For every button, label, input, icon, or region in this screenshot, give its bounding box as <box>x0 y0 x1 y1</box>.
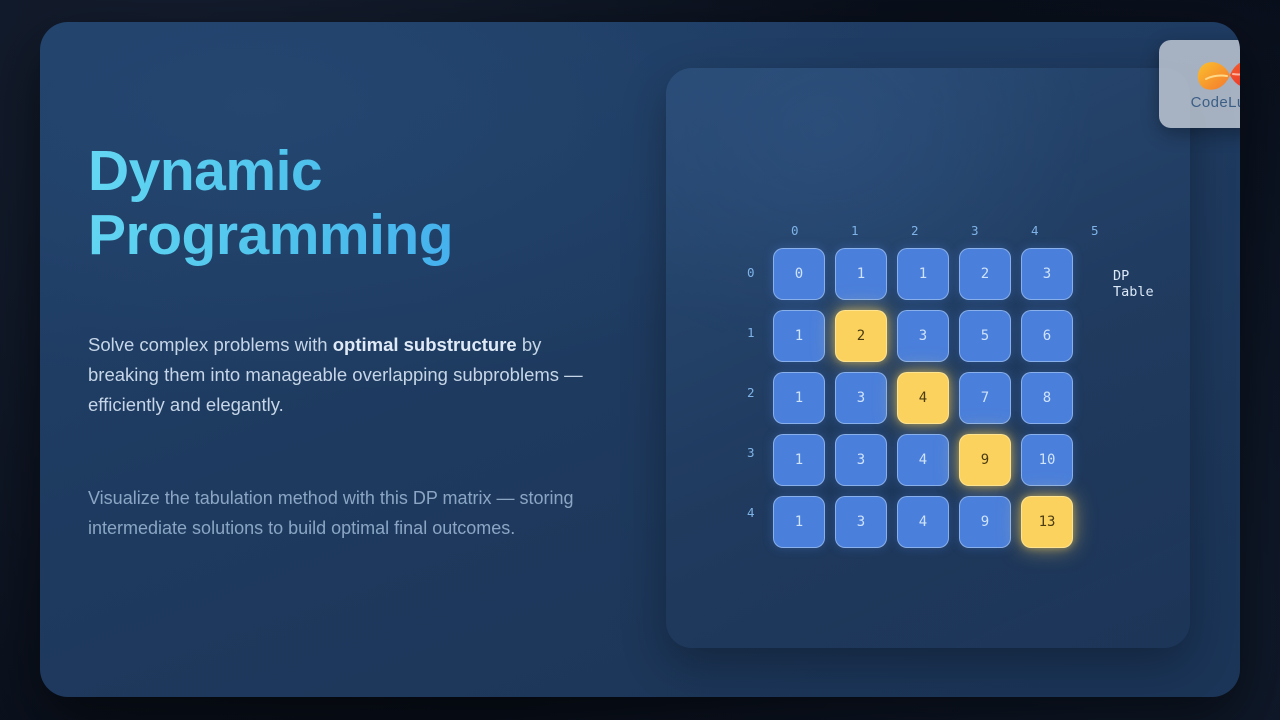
dp-cell-4-4[interactable]: 13 <box>1021 496 1073 548</box>
dp-cell-3-2[interactable]: 4 <box>897 434 949 486</box>
row-label-3: 3 <box>747 428 773 478</box>
dp-cell-4-1[interactable]: 3 <box>835 496 887 548</box>
row-label-2: 2 <box>747 368 773 418</box>
lead-paragraph-accent: optimal substructure <box>333 334 517 355</box>
dp-row: 134910 <box>773 434 1073 486</box>
dp-row: 01123 <box>773 248 1073 300</box>
column-header-row: 012345 <box>773 223 1073 243</box>
dp-cell-2-4[interactable]: 8 <box>1021 372 1073 424</box>
sub-paragraph: Visualize the tabulation method with thi… <box>88 483 588 543</box>
dp-cell-3-4[interactable]: 10 <box>1021 434 1073 486</box>
dp-grid-cells: 011231235613478134910134913 <box>773 248 1073 548</box>
column-label-0: 0 <box>791 223 799 238</box>
slide-stage: Dynamic Programming Solve complex proble… <box>0 0 1280 720</box>
dp-row: 12356 <box>773 310 1073 362</box>
dp-cell-1-0[interactable]: 1 <box>773 310 825 362</box>
page-title: Dynamic Programming <box>88 140 628 268</box>
row-label-4: 4 <box>747 488 773 538</box>
dp-cell-0-3[interactable]: 2 <box>959 248 1011 300</box>
dp-table: 012345 01234 011231235613478134910134913… <box>747 223 1073 548</box>
dp-cell-1-4[interactable]: 6 <box>1021 310 1073 362</box>
brand-badge: CodeLucky <box>1159 40 1240 128</box>
column-label-1: 1 <box>851 223 859 238</box>
column-label-4: 4 <box>1031 223 1039 238</box>
infinity-loop-icon <box>1193 57 1240 93</box>
column-label-5: 5 <box>1091 223 1099 238</box>
dp-cell-3-1[interactable]: 3 <box>835 434 887 486</box>
lead-paragraph-prefix: Solve complex problems with <box>88 334 333 355</box>
dp-cell-0-0[interactable]: 0 <box>773 248 825 300</box>
dp-cell-3-3[interactable]: 9 <box>959 434 1011 486</box>
dp-cell-2-0[interactable]: 1 <box>773 372 825 424</box>
brand-wordmark: CodeLucky <box>1191 94 1240 111</box>
dp-cell-4-2[interactable]: 4 <box>897 496 949 548</box>
dp-row: 13478 <box>773 372 1073 424</box>
dp-cell-0-4[interactable]: 3 <box>1021 248 1073 300</box>
dp-row: 134913 <box>773 496 1073 548</box>
dp-cell-2-2[interactable]: 4 <box>897 372 949 424</box>
dp-cell-3-0[interactable]: 1 <box>773 434 825 486</box>
dp-cell-2-3[interactable]: 7 <box>959 372 1011 424</box>
dp-cell-0-1[interactable]: 1 <box>835 248 887 300</box>
dp-cell-1-2[interactable]: 3 <box>897 310 949 362</box>
dp-cell-1-3[interactable]: 5 <box>959 310 1011 362</box>
column-label-3: 3 <box>971 223 979 238</box>
dp-grid-body: 01234 011231235613478134910134913 <box>747 248 1073 548</box>
dp-cell-4-3[interactable]: 9 <box>959 496 1011 548</box>
dp-cell-1-1[interactable]: 2 <box>835 310 887 362</box>
lead-paragraph: Solve complex problems with optimal subs… <box>88 330 604 420</box>
dp-table-caption: DP Table <box>1113 268 1154 300</box>
content-column: Dynamic Programming Solve complex proble… <box>88 140 628 543</box>
dp-cell-4-0[interactable]: 1 <box>773 496 825 548</box>
row-header-column: 01234 <box>747 248 773 548</box>
dp-cell-2-1[interactable]: 3 <box>835 372 887 424</box>
slide-card: Dynamic Programming Solve complex proble… <box>40 22 1240 697</box>
dp-visual-panel: 012345 01234 011231235613478134910134913… <box>666 68 1190 648</box>
column-label-2: 2 <box>911 223 919 238</box>
row-label-1: 1 <box>747 308 773 358</box>
dp-cell-0-2[interactable]: 1 <box>897 248 949 300</box>
row-label-0: 0 <box>747 248 773 298</box>
